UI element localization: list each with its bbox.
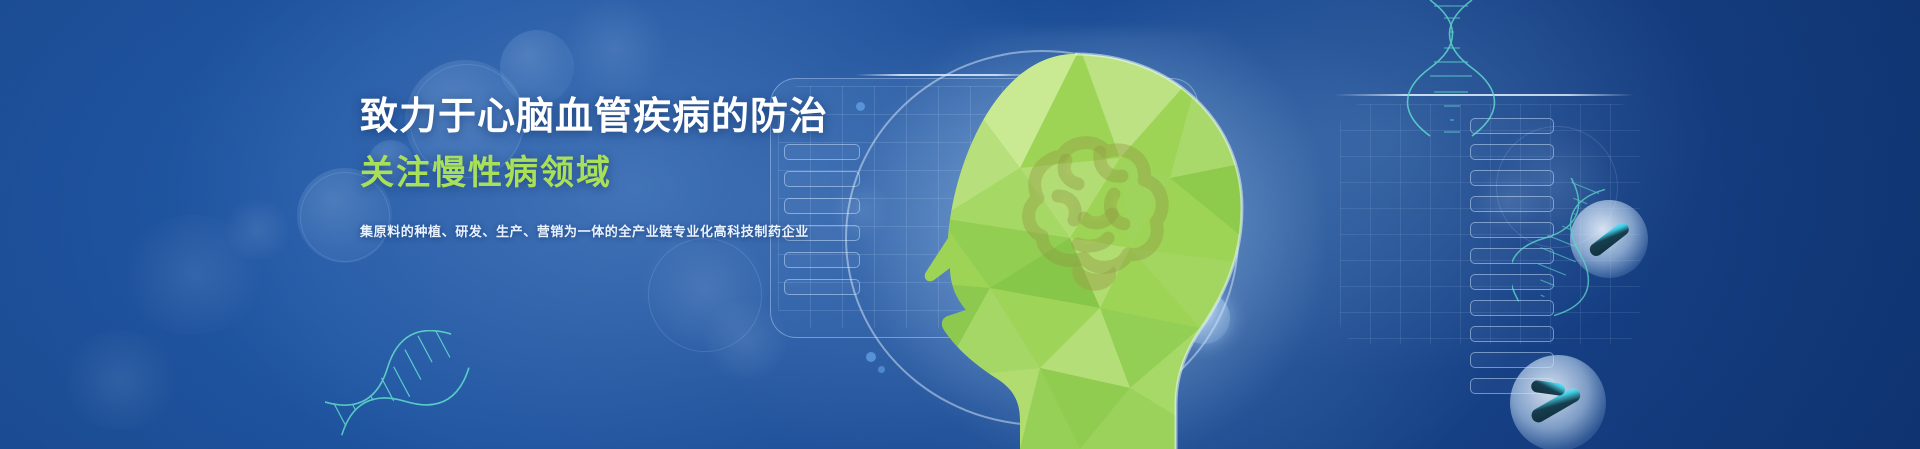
vignette-overlay [0, 0, 1920, 449]
banner-subheadline: 关注慢性病领域 [360, 153, 880, 194]
hero-banner: 致力于心脑血管疾病的防治 关注慢性病领域 集原料的种植、研发、生产、营销为一体的… [0, 0, 1920, 449]
banner-headline: 致力于心脑血管疾病的防治 [360, 96, 880, 139]
banner-copy: 致力于心脑血管疾病的防治 关注慢性病领域 集原料的种植、研发、生产、营销为一体的… [360, 96, 880, 240]
banner-tagline: 集原料的种植、研发、生产、营销为一体的全产业链专业化高科技制药企业 [360, 221, 880, 240]
